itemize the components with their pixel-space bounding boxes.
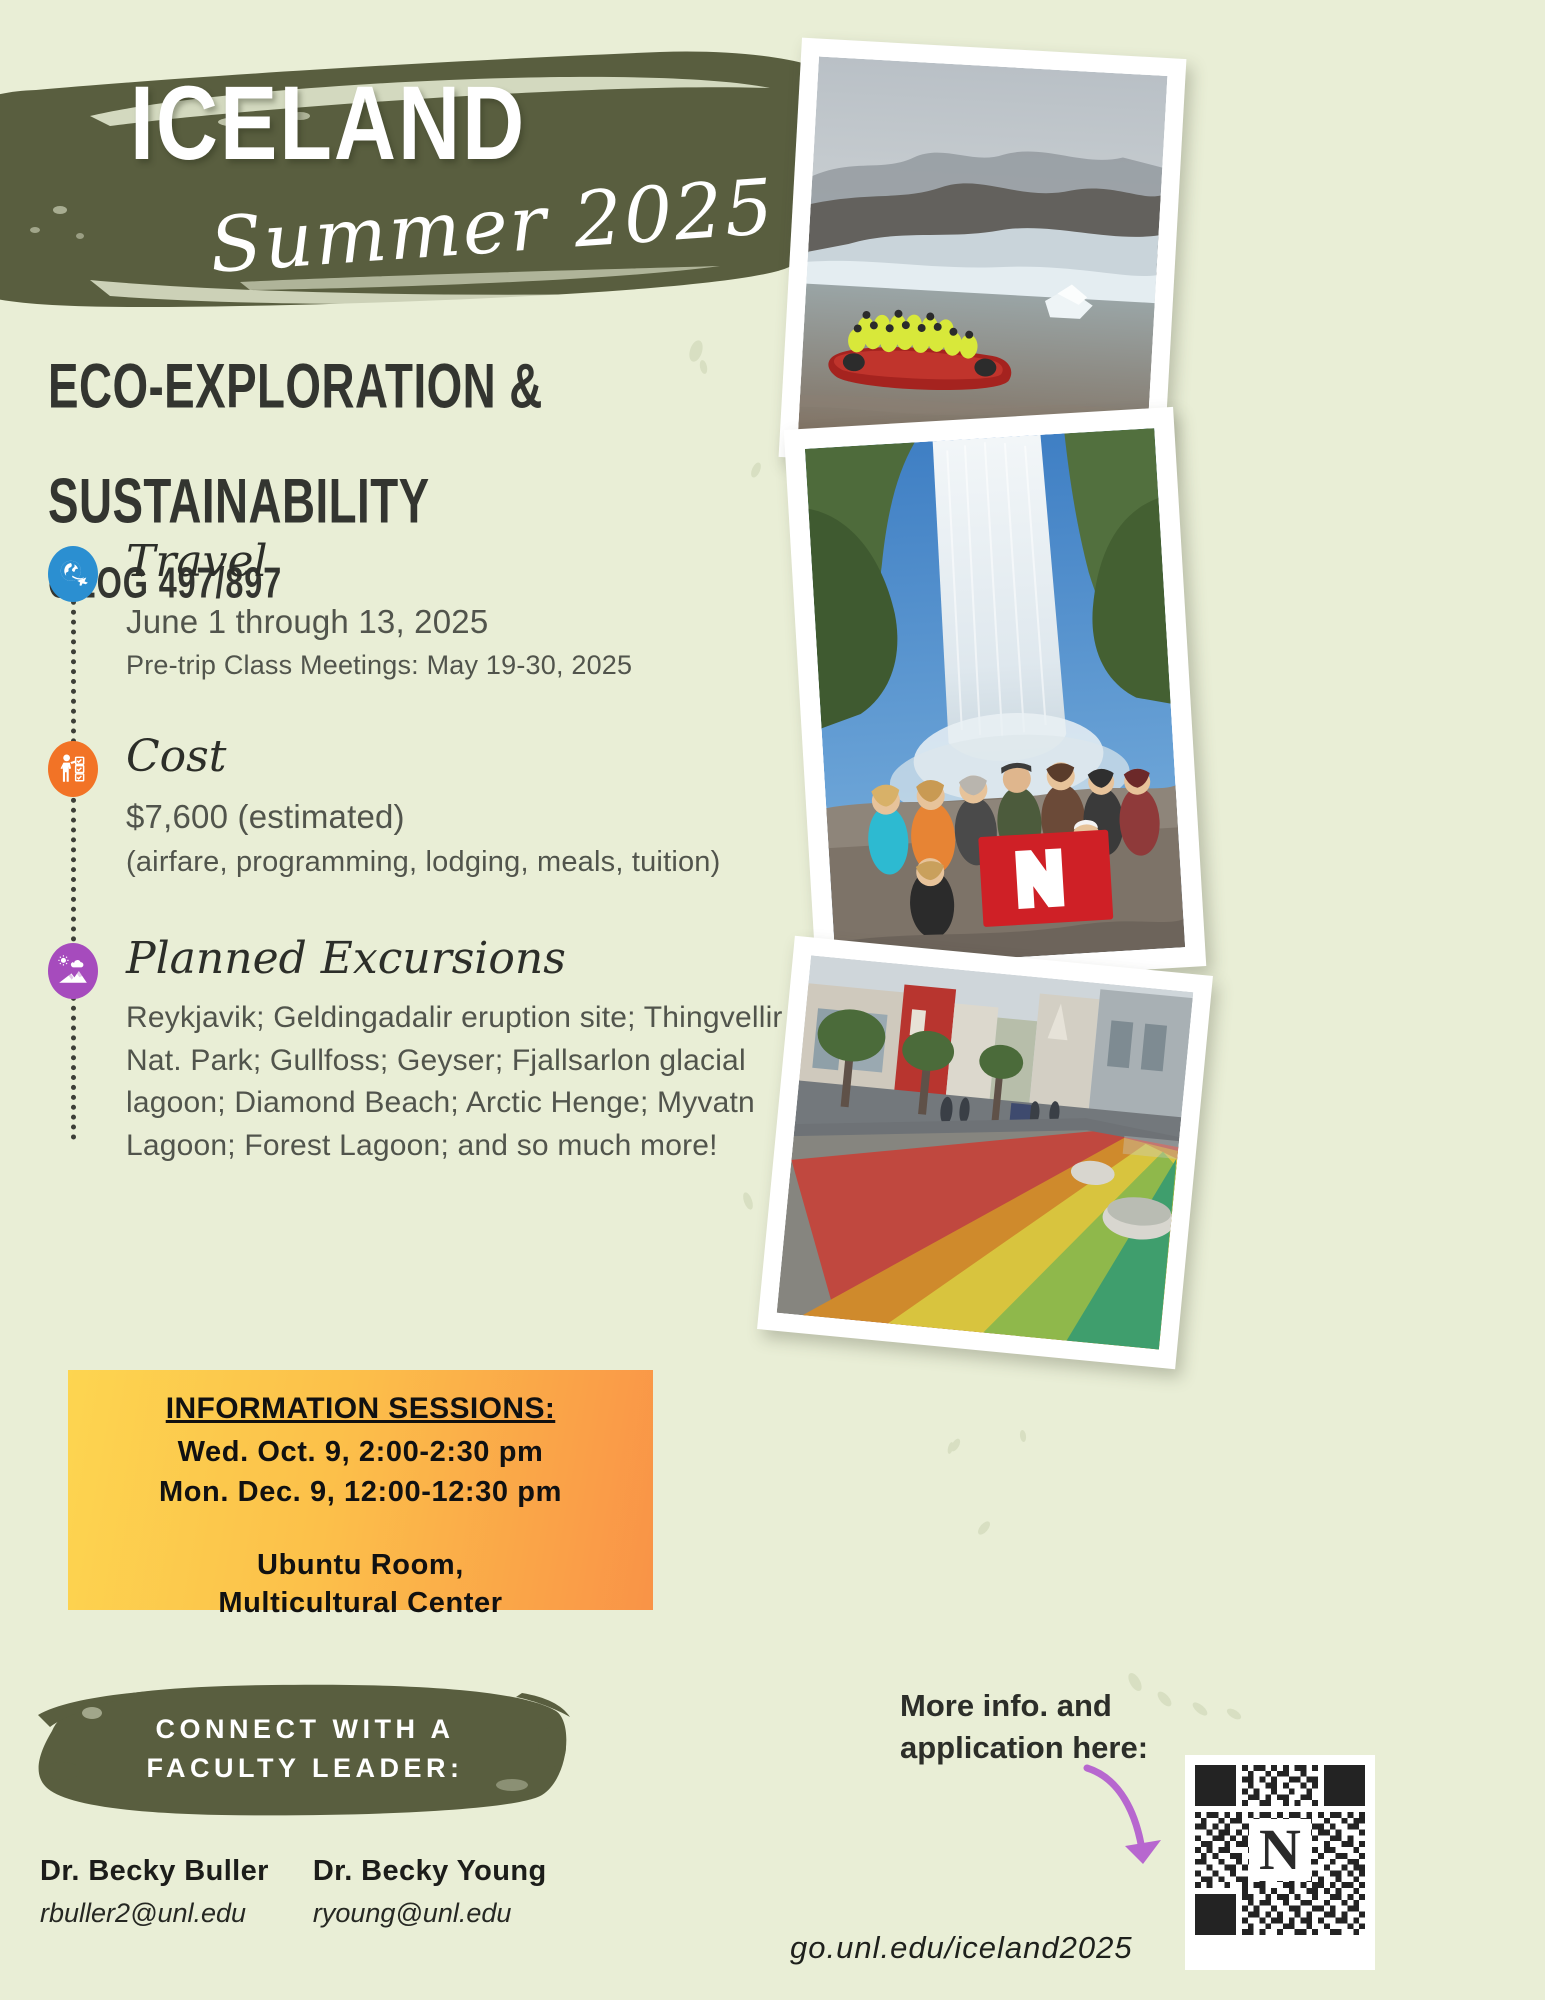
- faculty-leaders-list: Dr. Becky Buller rbuller2@unl.edu Dr. Be…: [40, 1855, 620, 1929]
- faculty-heading: CONNECT WITH A FACULTY LEADER:: [95, 1710, 515, 1788]
- faculty-email[interactable]: ryoung@unl.edu: [313, 1898, 547, 1929]
- faculty-leader: Dr. Becky Buller rbuller2@unl.edu: [40, 1855, 269, 1929]
- decorative-speck: [1019, 1430, 1027, 1443]
- nebraska-n-logo: N: [1249, 1819, 1311, 1881]
- cost-badge: [48, 741, 98, 797]
- person-checklist-icon: [56, 752, 90, 786]
- information-sessions-location-line-1: Ubuntu Room,: [218, 1546, 502, 1584]
- faculty-name: Dr. Becky Buller: [40, 1855, 269, 1888]
- excursions-heading: Planned Excursions: [126, 937, 788, 981]
- timeline-item-cost: Cost $7,600 (estimated) (airfare, progra…: [48, 735, 788, 881]
- cost-inclusions: (airfare, programming, lodging, meals, t…: [126, 843, 788, 881]
- excursions-badge: [48, 943, 98, 999]
- faculty-heading-line-2: FACULTY LEADER:: [95, 1749, 515, 1788]
- decorative-speck: [976, 1519, 992, 1536]
- photo-waterfall-group-flag: [784, 407, 1207, 989]
- faculty-heading-line-1: CONNECT WITH A: [95, 1710, 515, 1749]
- photo-reykjavik-rainbow-street: [757, 936, 1213, 1369]
- decorative-speck: [741, 1191, 755, 1211]
- faculty-leader: Dr. Becky Young ryoung@unl.edu: [313, 1855, 547, 1929]
- qr-code[interactable]: N: [1185, 1755, 1375, 1970]
- travel-badge: [48, 546, 98, 602]
- decorative-speck: [1225, 1706, 1243, 1721]
- timeline-item-excursions: Planned Excursions Reykjavik; Geldingada…: [48, 937, 788, 1167]
- travel-pretrip-meetings: Pre-trip Class Meetings: May 19-30, 2025: [126, 648, 788, 684]
- travel-heading: Travel: [126, 540, 788, 584]
- excursions-list: Reykjavik; Geldingadalir eruption site; …: [126, 997, 788, 1167]
- information-sessions-location-line-2: Multicultural Center: [218, 1584, 502, 1622]
- more-info-line-1: More info. and: [900, 1685, 1148, 1727]
- timeline-item-travel: Travel June 1 through 13, 2025 Pre-trip …: [48, 540, 788, 683]
- course-title-line-1: ECO-EXPLORATION &: [48, 350, 699, 425]
- more-info-label: More info. and application here:: [900, 1685, 1148, 1769]
- information-sessions-box: INFORMATION SESSIONS: Wed. Oct. 9, 2:00-…: [68, 1370, 653, 1610]
- decorative-speck: [1155, 1689, 1174, 1708]
- cost-heading: Cost: [126, 735, 788, 779]
- information-session-1: Wed. Oct. 9, 2:00-2:30 pm: [178, 1432, 544, 1472]
- information-sessions-title: INFORMATION SESSIONS:: [166, 1392, 556, 1426]
- information-session-2: Mon. Dec. 9, 12:00-12:30 pm: [159, 1472, 562, 1512]
- curved-arrow-icon: [1075, 1760, 1185, 1890]
- title-block: ICELAND Summer 2025: [130, 75, 830, 290]
- application-url[interactable]: go.unl.edu/iceland2025: [790, 1930, 1133, 1966]
- page-title: ICELAND: [130, 75, 830, 175]
- faculty-name: Dr. Becky Young: [313, 1855, 547, 1888]
- cost-amount: $7,600 (estimated): [126, 795, 788, 839]
- mountain-sun-icon: [56, 954, 90, 988]
- course-title-line-2: SUSTAINABILITY: [48, 465, 699, 540]
- globe-airplane-icon: [56, 557, 90, 591]
- decorative-speck: [1191, 1700, 1210, 1718]
- travel-dates: June 1 through 13, 2025: [126, 600, 788, 644]
- qr-code-matrix: N: [1195, 1765, 1365, 1935]
- details-timeline: Travel June 1 through 13, 2025 Pre-trip …: [48, 540, 788, 1185]
- faculty-email[interactable]: rbuller2@unl.edu: [40, 1898, 269, 1929]
